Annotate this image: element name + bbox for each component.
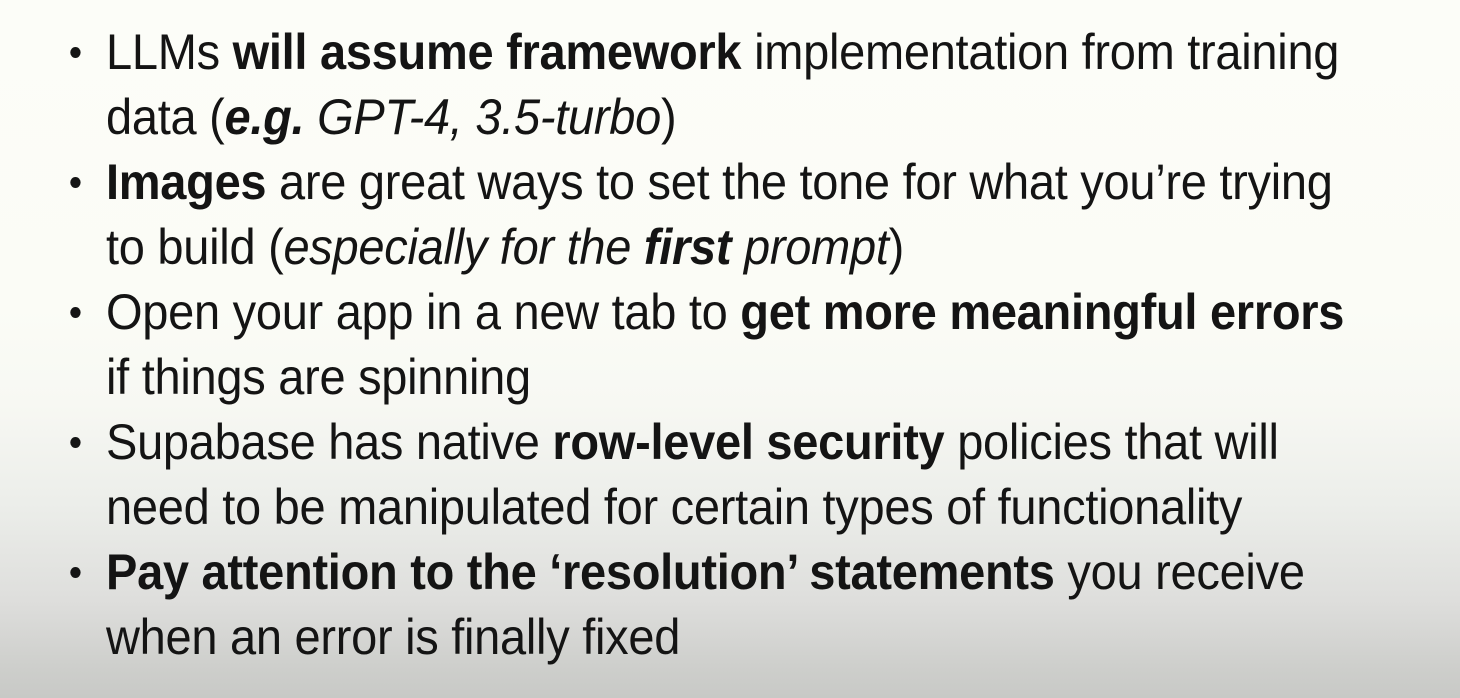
- bullet-images-set-tone: Images are great ways to set the tone fo…: [12, 150, 1362, 280]
- text-segment-normal: ): [889, 219, 904, 275]
- text-segment-bold: get more meaningful errors: [740, 284, 1344, 340]
- bullet-list: LLMs will assume framework implementatio…: [12, 20, 1448, 670]
- text-segment-bold: Images: [106, 154, 266, 210]
- text-segment-italic: prompt: [731, 219, 888, 275]
- text-segment-bold-italic: e.g.: [224, 89, 304, 145]
- bullet-dot-icon: [70, 567, 80, 578]
- bullet-open-new-tab: Open your app in a new tab to get more m…: [12, 280, 1362, 410]
- text-segment-normal: if things are spinning: [106, 349, 531, 405]
- text-segment-bold: row-level security: [552, 414, 944, 470]
- text-segment-bold: Pay attention to the ‘resolution’ statem…: [106, 544, 1055, 600]
- slide-canvas: LLMs will assume framework implementatio…: [0, 0, 1460, 698]
- bullet-dot-icon: [70, 47, 80, 58]
- bullet-dot-icon: [70, 437, 80, 448]
- bullet-resolution-statements: Pay attention to the ‘resolution’ statem…: [12, 540, 1362, 670]
- text-segment-normal: Supabase has native: [106, 414, 552, 470]
- bullet-text: Images are great ways to set the tone fo…: [106, 150, 1362, 280]
- bullet-dot-icon: [70, 307, 80, 318]
- text-segment-italic: GPT-4, 3.5-turbo: [304, 89, 661, 145]
- bullet-dot-icon: [70, 177, 80, 188]
- text-segment-normal: ): [661, 89, 676, 145]
- text-segment-normal: Open your app in a new tab to: [106, 284, 740, 340]
- bullet-llms-assume-framework: LLMs will assume framework implementatio…: [12, 20, 1362, 150]
- text-segment-bold-italic: first: [644, 219, 731, 275]
- text-segment-normal: LLMs: [106, 24, 233, 80]
- text-segment-bold: will assume framework: [233, 24, 742, 80]
- text-segment-italic: especially for the: [283, 219, 643, 275]
- bullet-text: Pay attention to the ‘resolution’ statem…: [106, 540, 1362, 670]
- bullet-supabase-rls: Supabase has native row-level security p…: [12, 410, 1362, 540]
- bullet-text: LLMs will assume framework implementatio…: [106, 20, 1362, 150]
- bullet-text: Supabase has native row-level security p…: [106, 410, 1362, 540]
- bullet-text: Open your app in a new tab to get more m…: [106, 280, 1362, 410]
